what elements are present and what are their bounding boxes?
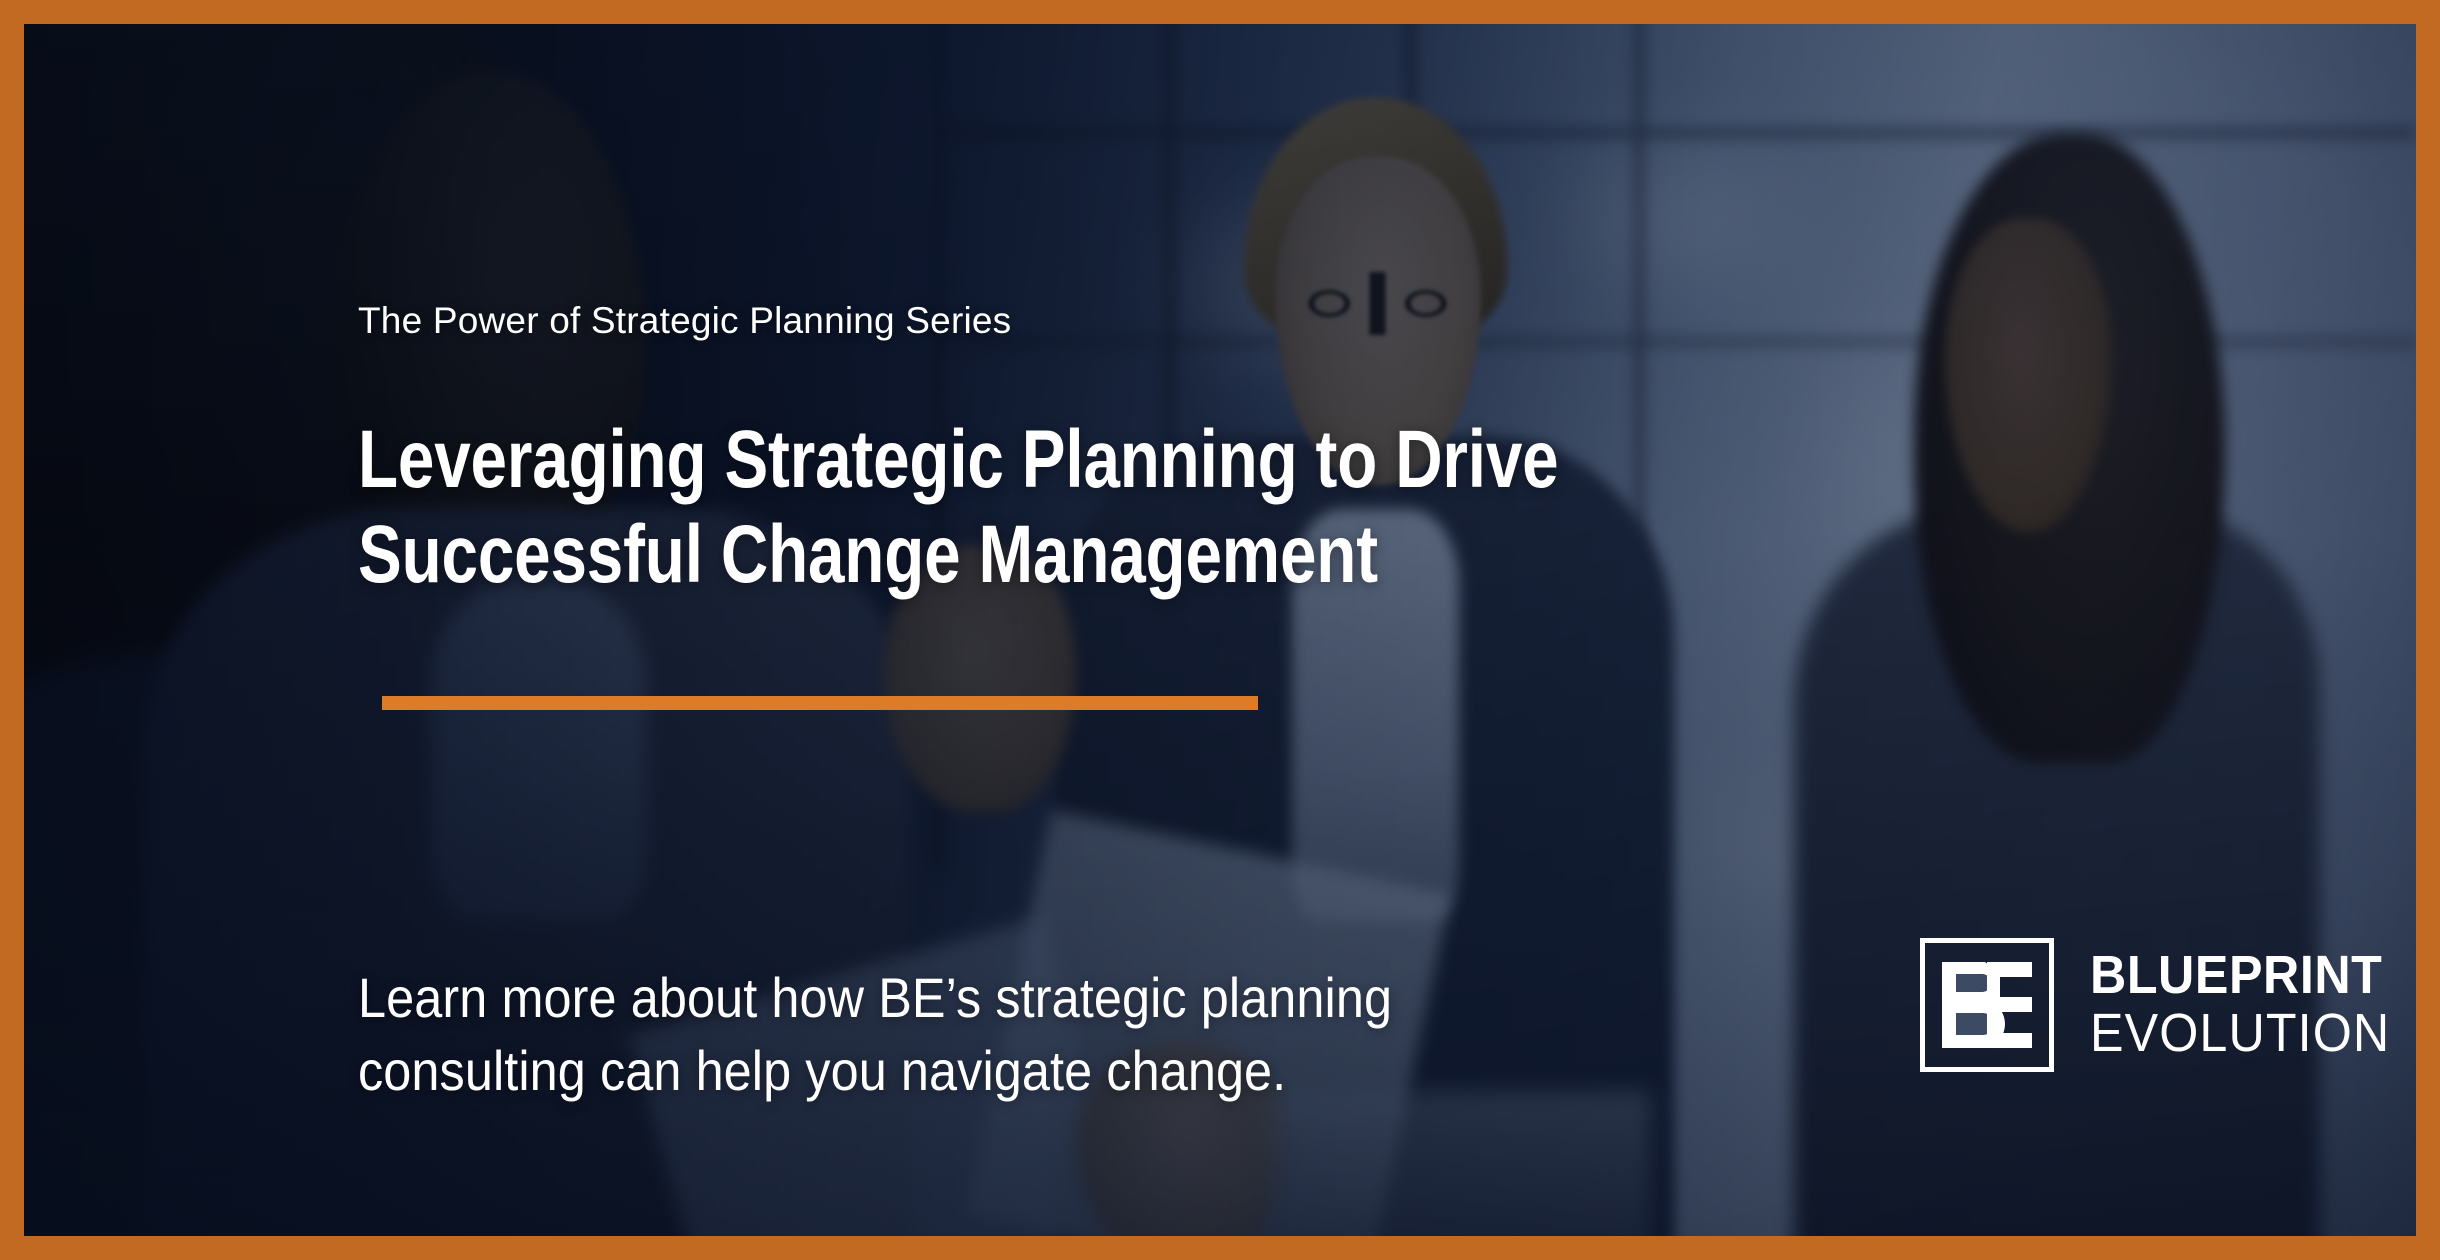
subhead-line-1: Learn more about how BE’s strategic plan… <box>358 962 1528 1035</box>
call-to-action-text: Learn more about how BE’s strategic plan… <box>358 962 1528 1108</box>
series-eyebrow: The Power of Strategic Planning Series <box>358 300 1011 342</box>
headline-line-2: Successful Change Management <box>358 507 1478 602</box>
hero-content: The Power of Strategic Planning Series L… <box>24 24 2416 1236</box>
hero-stage: The Power of Strategic Planning Series L… <box>24 24 2416 1236</box>
page-title: Leveraging Strategic Planning to Drive S… <box>358 412 1478 602</box>
headline-line-1: Leveraging Strategic Planning to Drive <box>358 412 1478 507</box>
be-monogram-icon <box>1920 938 2054 1072</box>
brand-logo[interactable]: BLUEPRINT™ EVOLUTION <box>1920 938 2413 1072</box>
social-card-frame: The Power of Strategic Planning Series L… <box>0 0 2440 1260</box>
orange-accent-rule <box>382 696 1258 710</box>
brand-wordmark: BLUEPRINT™ EVOLUTION <box>2090 948 2413 1062</box>
brand-word-secondary: EVOLUTION <box>2090 1005 2390 1062</box>
subhead-line-2: consulting can help you navigate change. <box>358 1035 1528 1108</box>
brand-word-primary: BLUEPRINT <box>2090 948 2382 1003</box>
